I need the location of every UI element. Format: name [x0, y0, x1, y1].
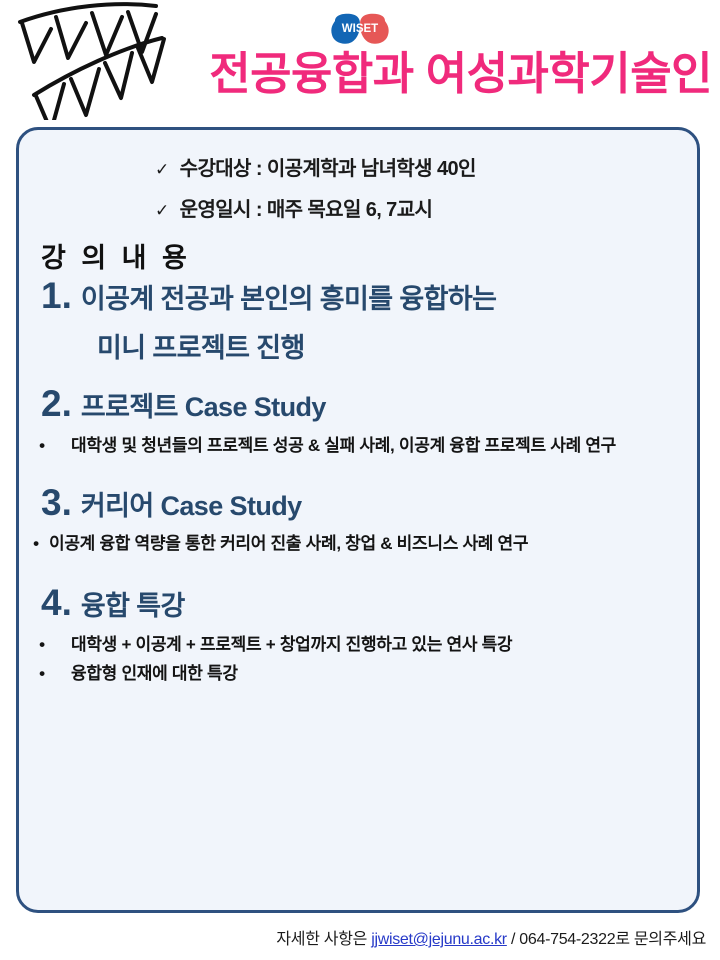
list-item: • 대학생 및 청년들의 프로젝트 성공 & 실패 사례, 이공계 융합 프로젝… [19, 431, 697, 460]
bullet-dot-icon: • [35, 630, 49, 659]
section-bullet-list: • 이공계 융합 역량을 통한 커리어 진출 사례, 창업 & 비즈니스 사례 … [19, 529, 697, 558]
content-section-2: 2. 프로젝트 Case Study • 대학생 및 청년들의 프로젝트 성공 … [19, 385, 697, 460]
footer-suffix: / 064-754-2322로 문의주세요 [507, 931, 706, 948]
section-label: 융합 특강 [81, 590, 185, 624]
poster-header: WISET 전공융합과 여성과학기술인 [0, 0, 720, 122]
bullet-dot-icon: • [31, 529, 41, 558]
section-title: 4. 융합 특강 [41, 584, 697, 624]
page-title: 전공융합과 여성과학기술인 [0, 46, 712, 102]
section-title: 3. 커리어 Case Study [41, 484, 697, 524]
section-number: 3. [41, 484, 72, 523]
bullet-text: 대학생 및 청년들의 프로젝트 성공 & 실패 사례, 이공계 융합 프로젝트 … [71, 431, 616, 460]
list-item: • 대학생 + 이공계 + 프로젝트 + 창업까지 진행하고 있는 연사 특강 [19, 630, 697, 659]
section-number: 1. [41, 277, 72, 316]
check-icon: ✓ [155, 201, 169, 221]
bullet-dot-icon: • [35, 431, 49, 460]
content-heading: 강 의 내 용 [41, 236, 697, 275]
section-number: 2. [41, 385, 72, 424]
bullet-text: 이공계 융합 역량을 통한 커리어 진출 사례, 창업 & 비즈니스 사례 연구 [49, 529, 528, 558]
section-label: 프로젝트 Case Study [81, 391, 326, 425]
section-label: 이공계 전공과 본인의 흥미를 융합하는 [81, 283, 496, 317]
bullet-text: 융합형 인재에 대한 특강 [71, 659, 238, 688]
info-item-text: 수강대상 : 이공계학과 남녀학생 40인 [180, 152, 476, 181]
section-bullet-list: • 대학생 + 이공계 + 프로젝트 + 창업까지 진행하고 있는 연사 특강 … [19, 630, 697, 688]
wiset-logo: WISET [329, 12, 391, 46]
section-title: 1. 이공계 전공과 본인의 흥미를 융합하는 [41, 277, 697, 317]
section-continuation: 미니 프로젝트 진행 [97, 326, 697, 365]
poster-body-panel: ✓ 수강대상 : 이공계학과 남녀학생 40인 ✓ 운영일시 : 매주 목요일 … [16, 127, 700, 913]
bullet-dot-icon: • [35, 659, 49, 688]
wiset-logo-text: WISET [342, 23, 378, 35]
content-section-4: 4. 융합 특강 • 대학생 + 이공계 + 프로젝트 + 창업까지 진행하고 … [19, 584, 697, 688]
section-number: 4. [41, 584, 72, 623]
list-item: ✓ 운영일시 : 매주 목요일 6, 7교시 [19, 193, 697, 222]
list-item: • 이공계 융합 역량을 통한 커리어 진출 사례, 창업 & 비즈니스 사례 … [19, 529, 697, 558]
bullet-text: 대학생 + 이공계 + 프로젝트 + 창업까지 진행하고 있는 연사 특강 [71, 630, 512, 659]
course-info-list: ✓ 수강대상 : 이공계학과 남녀학생 40인 ✓ 운영일시 : 매주 목요일 … [19, 152, 697, 222]
list-item: • 융합형 인재에 대한 특강 [19, 659, 697, 688]
info-item-text: 운영일시 : 매주 목요일 6, 7교시 [180, 193, 433, 222]
contact-footer: 자세한 사항은 jjwiset@jejunu.ac.kr / 064-754-2… [0, 925, 706, 949]
section-title: 2. 프로젝트 Case Study [41, 385, 697, 425]
footer-prefix: 자세한 사항은 [276, 931, 371, 948]
check-icon: ✓ [155, 160, 169, 180]
section-bullet-list: • 대학생 및 청년들의 프로젝트 성공 & 실패 사례, 이공계 융합 프로젝… [19, 431, 697, 460]
content-section-1: 1. 이공계 전공과 본인의 흥미를 융합하는 미니 프로젝트 진행 [19, 277, 697, 365]
list-item: ✓ 수강대상 : 이공계학과 남녀학생 40인 [19, 152, 697, 181]
contact-email-link[interactable]: jjwiset@jejunu.ac.kr [371, 931, 507, 948]
section-label: 커리어 Case Study [81, 490, 302, 524]
content-section-3: 3. 커리어 Case Study • 이공계 융합 역량을 통한 커리어 진출… [19, 484, 697, 559]
